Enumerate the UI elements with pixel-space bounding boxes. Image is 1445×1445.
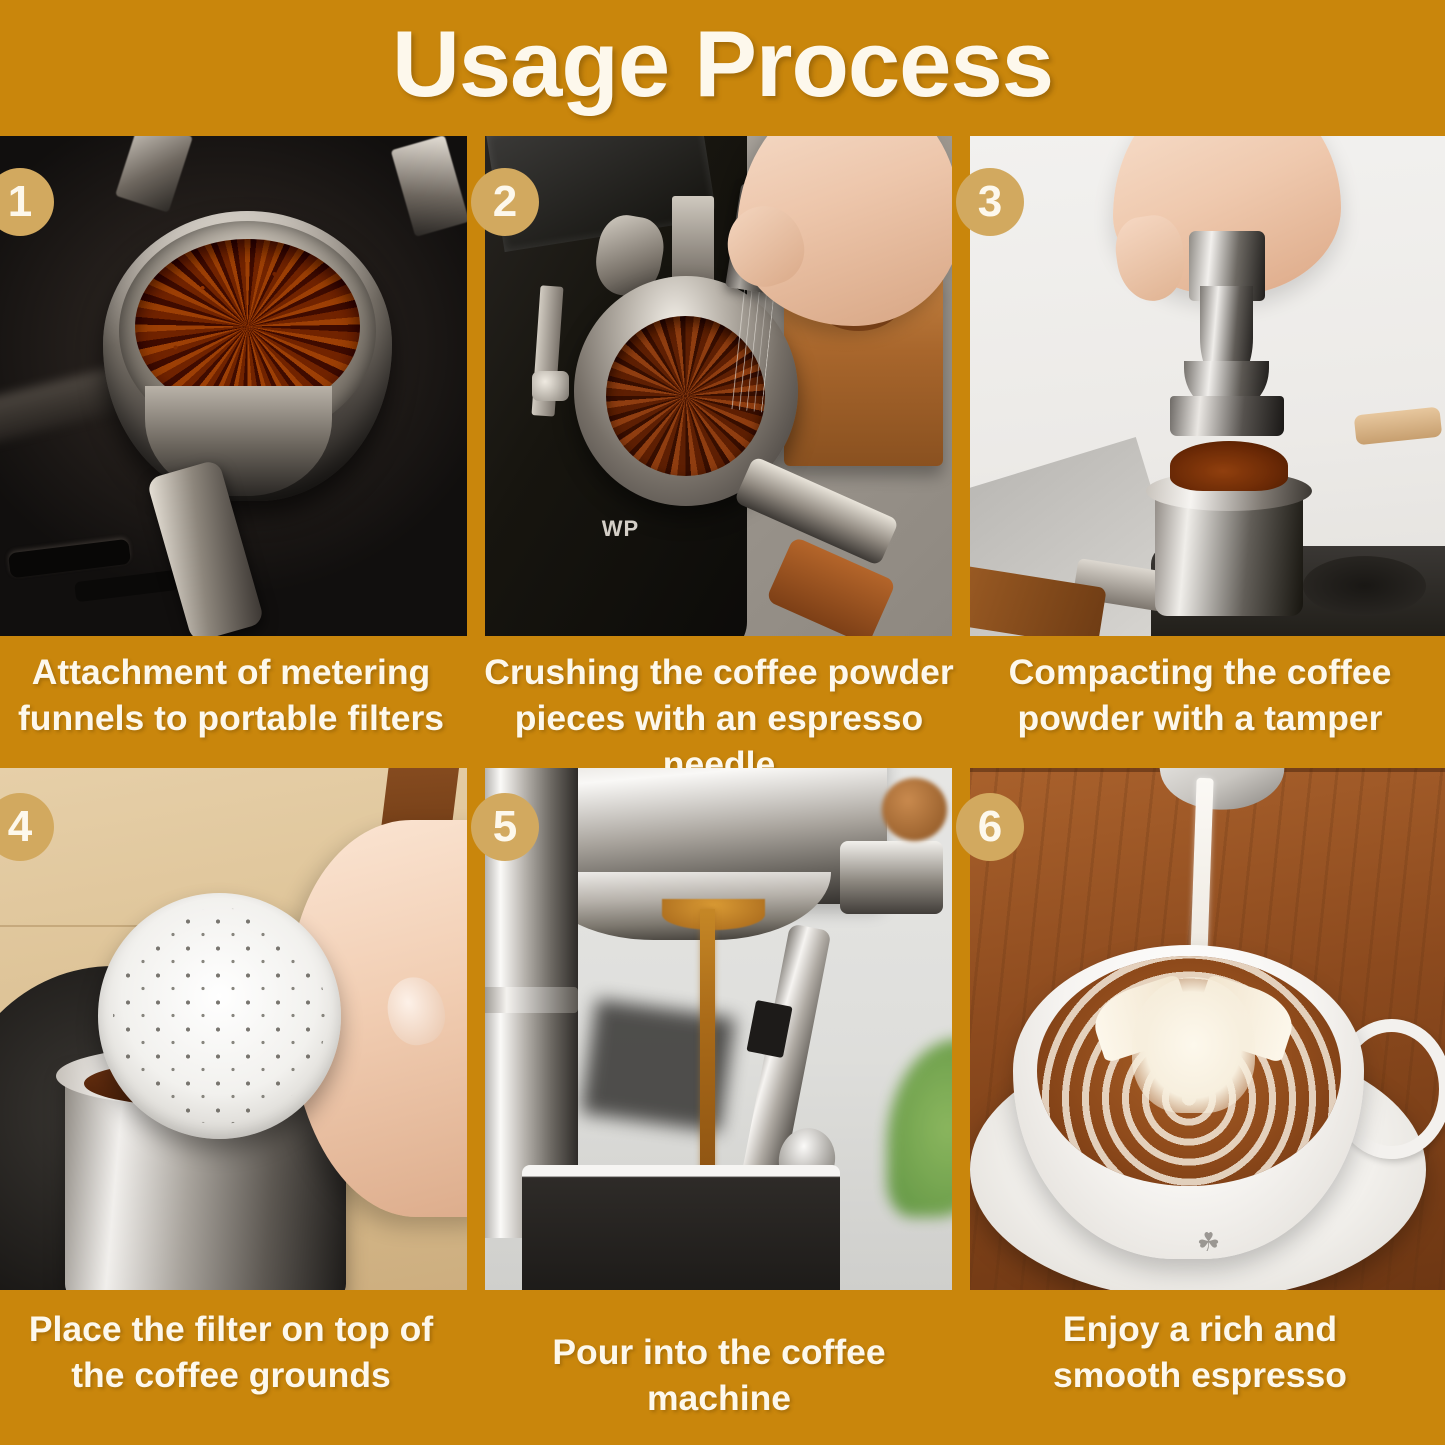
- step-badge-2: 2: [471, 168, 539, 236]
- step-caption-2-line-1: Crushing the coffee powder: [480, 650, 958, 696]
- step-card-1: [0, 136, 467, 636]
- step-card-3: [970, 136, 1445, 636]
- black-cup: [522, 1165, 840, 1290]
- step-caption-6-line-1: Enjoy a rich and: [965, 1307, 1435, 1353]
- step-badge-5: 5: [471, 793, 539, 861]
- drip-tray-recess: [1303, 556, 1427, 616]
- puck-screen-perforations: [113, 908, 327, 1124]
- step-photo-3: [970, 136, 1445, 636]
- step-photo-6: ☘: [970, 768, 1445, 1290]
- step-caption-4: Place the filter on top of the coffee gr…: [0, 1307, 462, 1399]
- cup-logo: ☘: [1151, 1227, 1265, 1279]
- step-card-6: ☘: [970, 768, 1445, 1290]
- column-ring: [485, 987, 578, 1013]
- step-caption-1: Attachment of metering funnels to portab…: [0, 650, 462, 742]
- step-caption-1-line-2: funnels to portable filters: [0, 696, 462, 742]
- coffee-grounds-mound: [1170, 441, 1289, 491]
- step-photo-1: [0, 136, 467, 636]
- step-card-4: [0, 768, 467, 1290]
- step-photo-2: WP: [485, 136, 952, 636]
- step-photo-5: [485, 768, 952, 1290]
- page-title: Usage Process: [0, 14, 1445, 114]
- step-card-5: [485, 768, 952, 1290]
- step-caption-5: Pour into the coffee machine: [480, 1330, 958, 1422]
- grinder-fork: [672, 196, 714, 286]
- step-caption-2: Crushing the coffee powder pieces with a…: [480, 650, 958, 787]
- machine-knob: [840, 841, 943, 914]
- latte-art-rosetta: [1132, 977, 1256, 1113]
- step-caption-4-line-2: the coffee grounds: [0, 1353, 462, 1399]
- step-caption-3: Compacting the coffee powder with a tamp…: [965, 650, 1435, 742]
- step-caption-4-line-1: Place the filter on top of: [0, 1307, 462, 1353]
- step-caption-3-line-2: powder with a tamper: [965, 696, 1435, 742]
- step-caption-5-line-1: Pour into the coffee machine: [480, 1330, 958, 1422]
- step-caption-3-line-1: Compacting the coffee: [965, 650, 1435, 696]
- grinder-knob: [532, 371, 569, 401]
- espresso-stream: [700, 909, 715, 1196]
- step-badge-3: 3: [956, 168, 1024, 236]
- tamper-base: [1170, 396, 1284, 436]
- step-photo-4: [0, 768, 467, 1290]
- wooden-knob-blur: [882, 778, 947, 841]
- puck-screen-filter: [98, 893, 341, 1138]
- step-caption-6: Enjoy a rich and smooth espresso: [965, 1307, 1435, 1399]
- machine-brand-label: WP: [602, 516, 639, 542]
- step-caption-6-line-2: smooth espresso: [965, 1353, 1435, 1399]
- step-badge-6: 6: [956, 793, 1024, 861]
- step-card-2: WP: [485, 136, 952, 636]
- step-caption-1-line-1: Attachment of metering: [0, 650, 462, 696]
- usage-process-infographic: Usage Process 1 Attachment of metering f…: [0, 0, 1445, 1445]
